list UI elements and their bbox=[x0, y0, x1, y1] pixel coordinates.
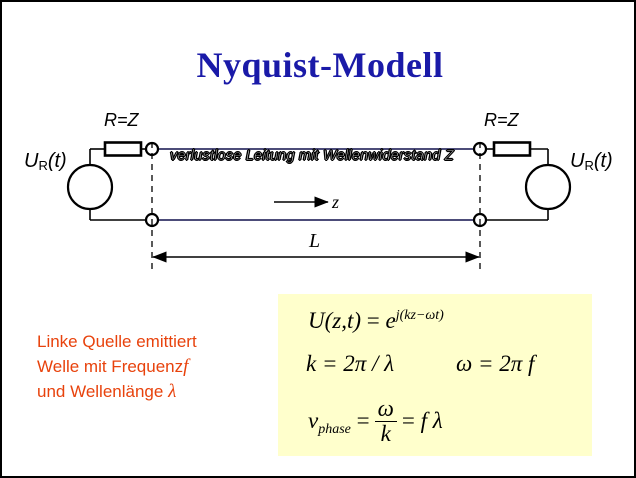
annotation-line-2-text: Welle mit Frequenz bbox=[37, 357, 183, 376]
left-source-label-sub: R bbox=[38, 158, 47, 173]
left-source-label-main: U bbox=[24, 150, 38, 172]
left-source-label-tail: (t) bbox=[48, 150, 67, 172]
right-source-label: UR(t) bbox=[570, 150, 613, 173]
equation-phase-velocity: vphase =ωk= f λ bbox=[308, 398, 443, 447]
annotation-frequency-symbol: f bbox=[183, 356, 188, 377]
fraction-denominator: k bbox=[375, 421, 397, 446]
equation-wave: U(z,t) = ej(kz−ωt) bbox=[308, 308, 444, 334]
right-source-label-tail: (t) bbox=[594, 150, 613, 172]
z-axis-label: z bbox=[332, 192, 339, 213]
formula-panel: U(z,t) = ej(kz−ωt) k = 2π / λ ω = 2π f v… bbox=[278, 294, 592, 456]
right-resistor bbox=[494, 143, 530, 156]
left-resistor bbox=[105, 143, 141, 156]
right-source-circle bbox=[526, 165, 570, 209]
equation-angular-frequency: ω = 2π f bbox=[456, 351, 534, 377]
equation-phase-velocity-subscript: phase bbox=[318, 422, 351, 437]
annotation-line-1: Linke Quelle emittiert bbox=[37, 329, 197, 354]
equation-phase-velocity-symbol: v bbox=[308, 408, 318, 433]
right-resistor-label: R=Z bbox=[484, 110, 519, 131]
annotation-line-3-text: und Wellenlänge bbox=[37, 382, 163, 401]
annotation-line-2: Welle mit Frequenzf bbox=[37, 354, 197, 379]
equation-wavenumber: k = 2π / λ bbox=[306, 351, 394, 377]
equation-phase-velocity-equals-1: = bbox=[357, 408, 370, 433]
equation-wave-equals: = bbox=[367, 308, 380, 333]
annotation-wavelength-symbol: λ bbox=[168, 381, 176, 402]
left-source-circle bbox=[68, 165, 112, 209]
equation-phase-velocity-rhs: f λ bbox=[421, 408, 443, 433]
annotation-line-3: und Wellenlänge λ bbox=[37, 379, 197, 404]
annotation-text-block: Linke Quelle emittiert Welle mit Frequen… bbox=[37, 329, 197, 404]
right-source-label-sub: R bbox=[584, 158, 593, 173]
fraction-numerator: ω bbox=[375, 397, 397, 421]
left-resistor-label: R=Z bbox=[104, 110, 139, 131]
length-label: L bbox=[309, 230, 320, 253]
left-source-label: UR(t) bbox=[24, 150, 67, 173]
equation-wave-base: e bbox=[386, 308, 396, 333]
equation-wave-exponent: j(kz−ωt) bbox=[396, 308, 444, 323]
transmission-line-caption: verlustlose Leitung mit Wellenwiderstand… bbox=[170, 148, 454, 164]
equation-phase-velocity-equals-2: = bbox=[402, 408, 415, 433]
right-source-label-main: U bbox=[570, 150, 584, 172]
slide-canvas: Nyquist-Modell bbox=[0, 0, 636, 478]
equation-phase-velocity-fraction: ωk bbox=[375, 397, 397, 446]
equation-wave-lhs: U(z,t) bbox=[308, 308, 361, 333]
